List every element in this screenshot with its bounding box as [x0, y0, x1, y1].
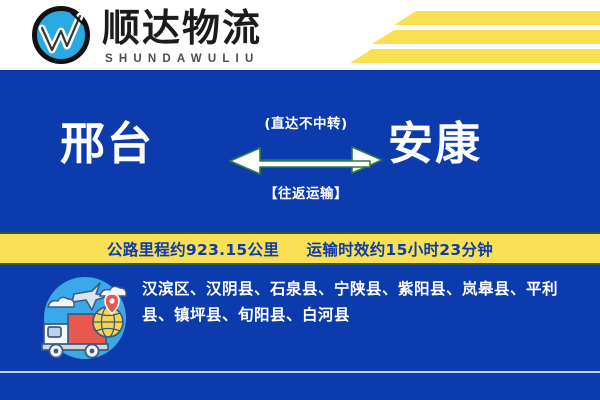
- bidirectional-arrow-icon: [220, 138, 392, 178]
- logistics-route-banner: 顺达物流 SHUNDAWULIU 邢台 (直达不中转): [0, 0, 600, 400]
- brand-logo: 顺达物流 SHUNDAWULIU: [30, 4, 262, 66]
- banner-header: 顺达物流 SHUNDAWULIU: [0, 0, 600, 70]
- route-center-group: (直达不中转) 【往返运输】: [222, 112, 390, 222]
- route-origin-city: 邢台: [60, 118, 154, 170]
- route-distance: 公路里程约923.15公里: [107, 241, 279, 259]
- route-note-roundtrip: 【往返运输】: [222, 182, 390, 202]
- decor-stripe-1: [394, 11, 600, 25]
- route-duration: 运输时效约15小时23分钟: [307, 241, 494, 259]
- bottom-hairline-divider: [0, 371, 600, 373]
- route-row: 邢台 (直达不中转) 【往返运输】 安康: [0, 70, 600, 232]
- route-destination-city: 安康: [388, 118, 482, 170]
- route-section: 邢台 (直达不中转) 【往返运输】 安康: [0, 70, 600, 232]
- circular-w-swoosh-logo-icon: [30, 4, 92, 66]
- logistics-truck-globe-airplane-icon: [36, 272, 134, 360]
- brand-name-cn: 顺达物流: [102, 6, 262, 50]
- route-note-direct: (直达不中转): [222, 112, 390, 132]
- coverage-areas-list: 汉滨区、汉阴县、石泉县、宁陕县、紫阳县、岚皋县、平利县、镇坪县、旬阳县、白河县: [142, 276, 580, 328]
- decor-stripe-2: [372, 30, 600, 44]
- brand-name-en: SHUNDAWULIU: [105, 52, 262, 66]
- route-info-text: 公路里程约923.15公里 运输时效约15小时23分钟: [107, 238, 493, 260]
- brand-text: 顺达物流 SHUNDAWULIU: [102, 4, 262, 66]
- route-info-bar: 公路里程约923.15公里 运输时效约15小时23分钟: [0, 232, 600, 265]
- decor-stripe-3: [350, 49, 600, 63]
